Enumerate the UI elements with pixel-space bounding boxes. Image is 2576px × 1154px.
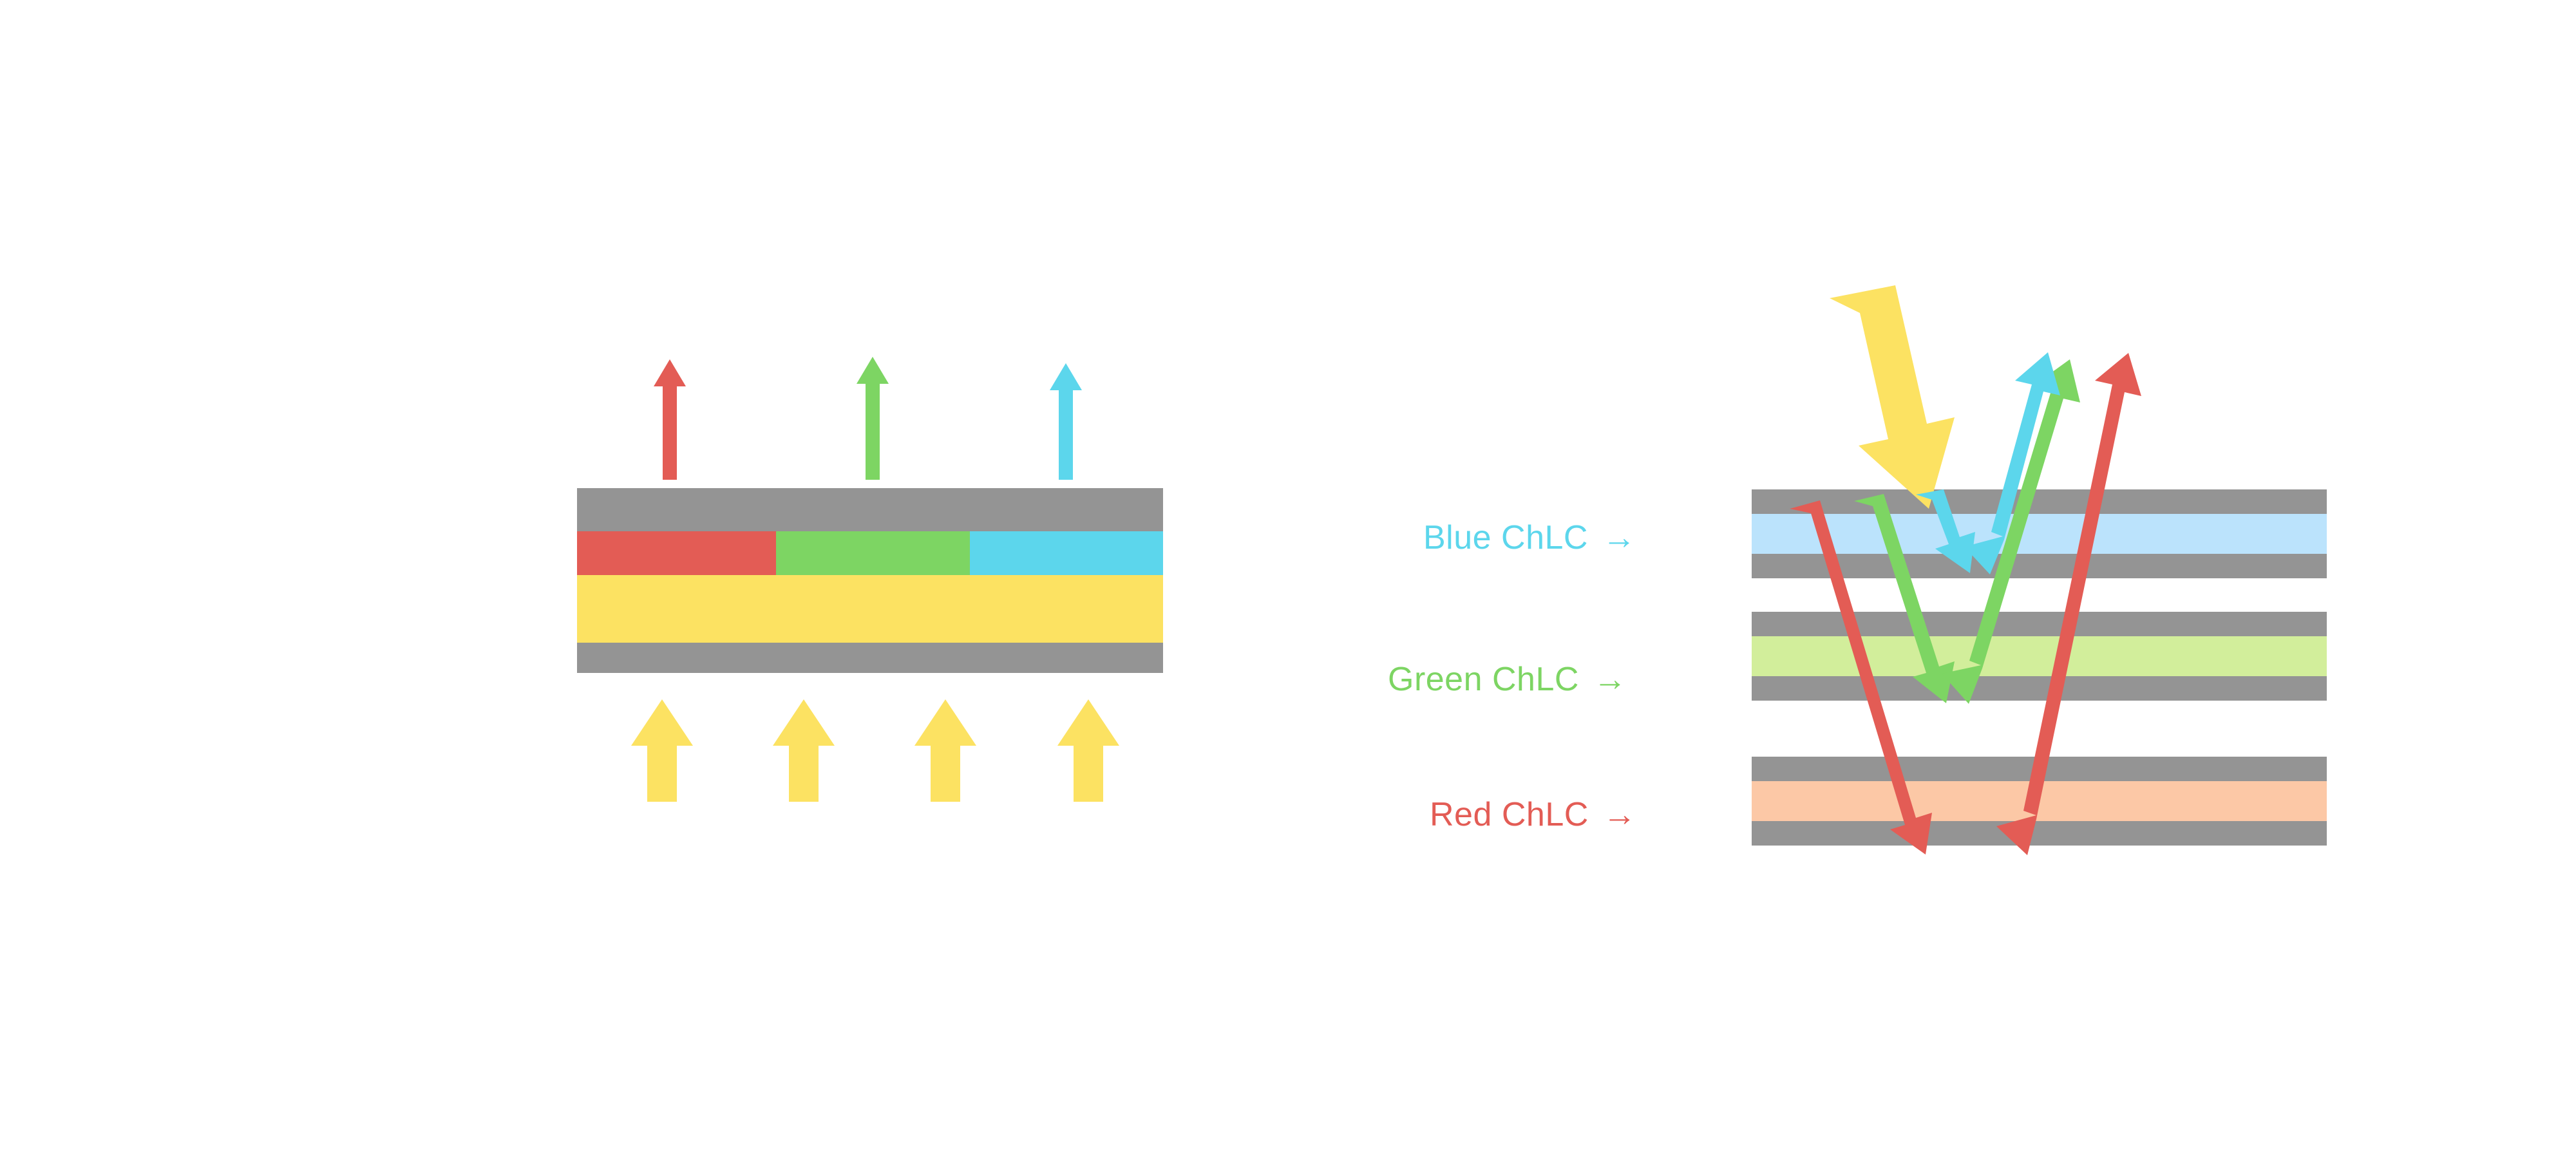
blue-chlc-label-arrow-icon: → xyxy=(1602,518,1636,557)
red-chlc-label-text: Red ChLC xyxy=(1430,795,1589,834)
blue-chlc-label: Blue ChLC → xyxy=(1423,518,1636,557)
reflective-chlc-panel: Blue ChLC → Green ChLC → Red ChLC → xyxy=(1288,0,2576,1154)
incident-white-light-arrow xyxy=(1830,285,1955,509)
red-subpixel xyxy=(577,531,776,575)
blue-subpixel xyxy=(970,531,1163,575)
red-chlc-label-arrow-icon: → xyxy=(1603,795,1637,834)
green-chlc-label-arrow-icon: → xyxy=(1593,660,1627,699)
green-cell-bottom-electrode xyxy=(1752,676,2327,701)
green-chlc-label: Green ChLC → xyxy=(1388,660,1627,699)
green-chlc-cell xyxy=(1752,612,2327,701)
green-output-arrow xyxy=(857,357,889,480)
blue-output-arrow xyxy=(1050,363,1082,480)
red-cell-bottom-electrode xyxy=(1752,821,2327,846)
blue-chlc-cell xyxy=(1752,489,2327,578)
rgb-colour-filter-layer xyxy=(577,531,1163,575)
red-chlc-medium xyxy=(1752,781,2327,821)
backlight-arrow-4 xyxy=(1057,699,1119,802)
blue-chlc-label-text: Blue ChLC xyxy=(1423,518,1588,557)
green-cell-top-electrode xyxy=(1752,612,2327,636)
yellow-backlight-layer xyxy=(577,575,1163,643)
emissive-stack-panel xyxy=(0,0,1288,1154)
backlight-arrow-2 xyxy=(773,699,835,802)
red-chlc-cell xyxy=(1752,757,2327,846)
backlight-arrow-3 xyxy=(914,699,976,802)
blue-chlc-medium xyxy=(1752,514,2327,554)
backlight-arrow-1 xyxy=(631,699,693,802)
diagram-canvas: Blue ChLC → Green ChLC → Red ChLC → xyxy=(0,0,2576,1154)
blue-cell-bottom-electrode xyxy=(1752,554,2327,578)
blue-cell-top-electrode xyxy=(1752,489,2327,514)
red-output-arrow xyxy=(654,359,686,480)
green-chlc-label-text: Green ChLC xyxy=(1388,660,1579,699)
top-electrode-layer xyxy=(577,488,1163,531)
red-chlc-label: Red ChLC → xyxy=(1430,795,1636,834)
green-subpixel xyxy=(776,531,969,575)
bottom-electrode-layer xyxy=(577,643,1163,673)
red-cell-top-electrode xyxy=(1752,757,2327,781)
green-chlc-medium xyxy=(1752,636,2327,676)
